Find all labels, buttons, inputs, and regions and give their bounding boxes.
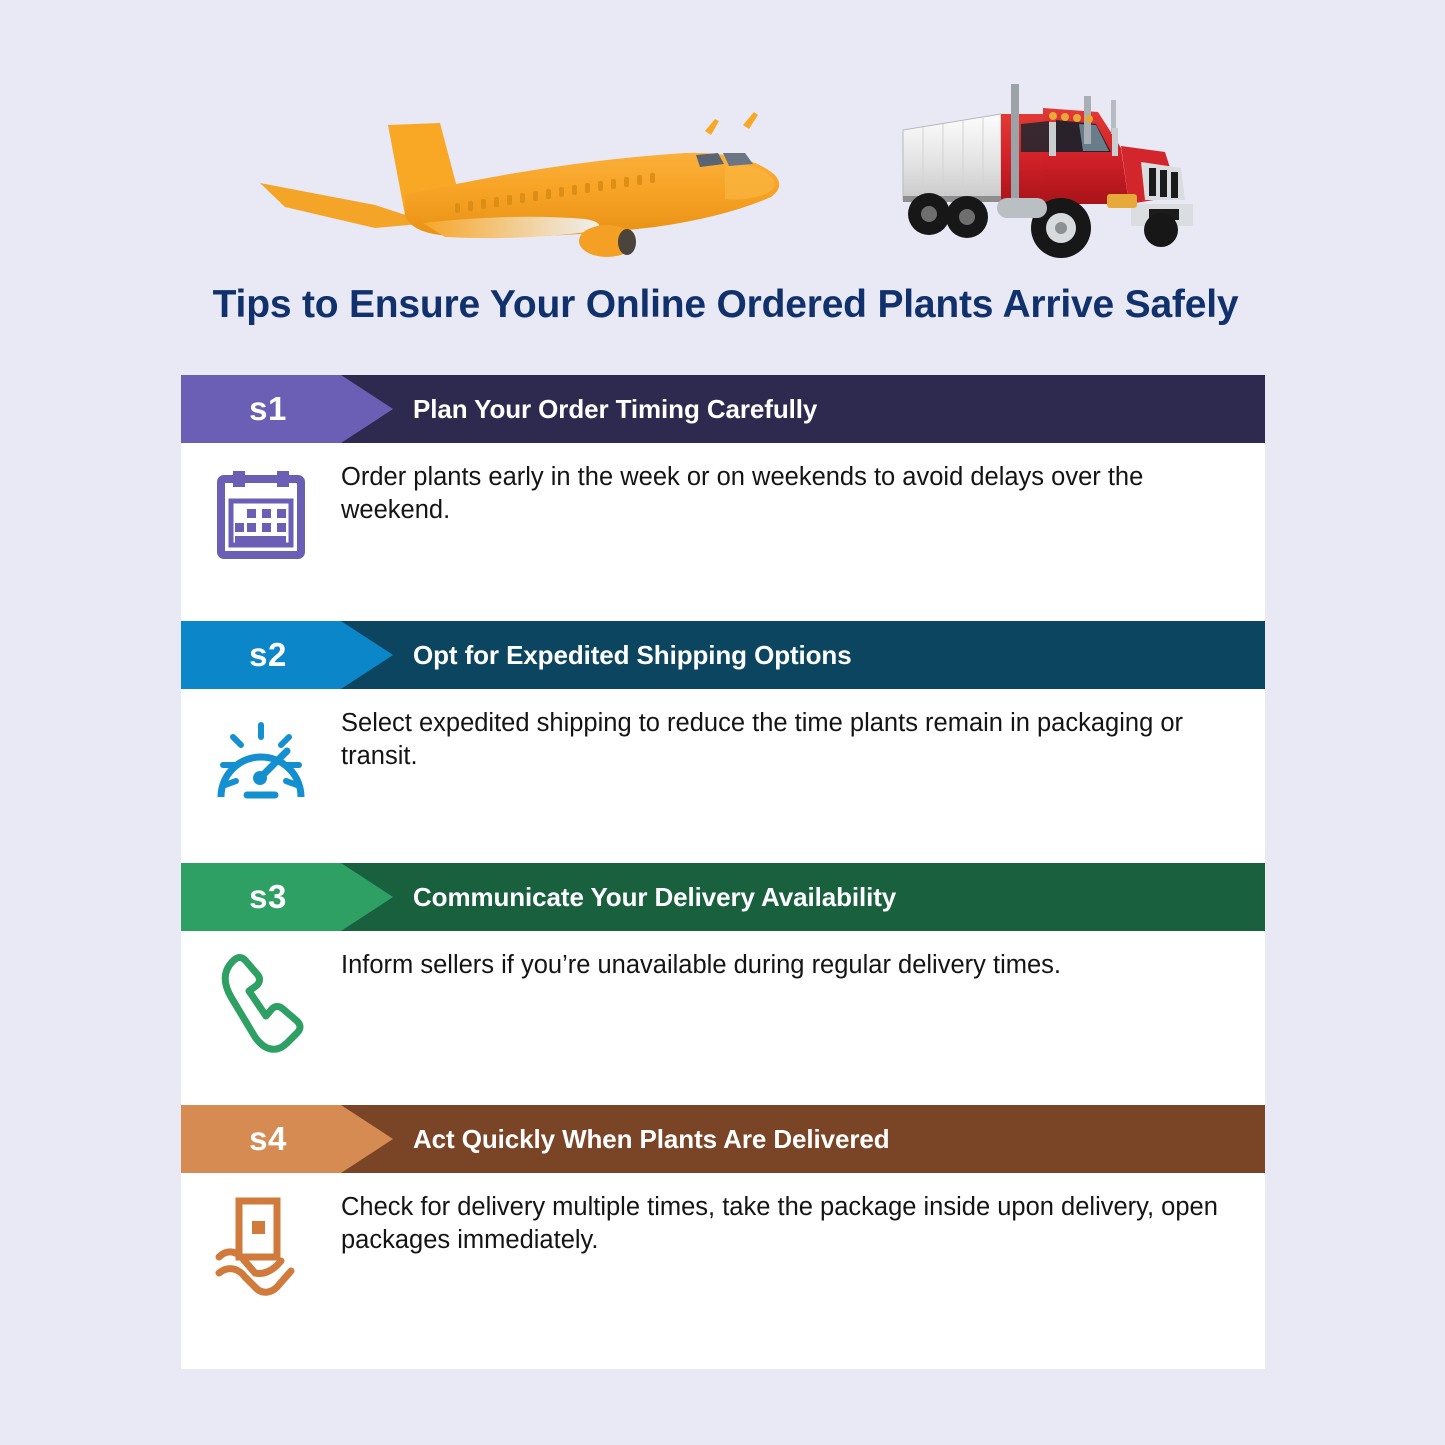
step-3-badge-label: s3 (249, 878, 325, 916)
step-3-spacer (181, 1057, 1265, 1105)
step-1-body: Order plants early in the week or on wee… (181, 443, 1265, 561)
page-title: Tips to Ensure Your Online Ordered Plant… (178, 283, 1273, 327)
infographic-page: Tips to Ensure Your Online Ordered Plant… (0, 0, 1445, 1445)
step-1-badge: s1 (181, 375, 393, 443)
step-2-description: Select expedited shipping to reduce the … (341, 707, 1255, 773)
step-1-header: s1 Plan Your Order Timing Carefully (181, 375, 1265, 443)
step-4-spacer (181, 1299, 1265, 1369)
step-1: s1 Plan Your Order Timing Carefully (181, 375, 1265, 621)
delivery-truck-photo (893, 78, 1223, 273)
step-3-header: s3 Communicate Your Delivery Availabilit… (181, 863, 1265, 931)
step-4-badge: s4 (181, 1105, 393, 1173)
step-2-header: s2 Opt for Expedited Shipping Options (181, 621, 1265, 689)
step-1-title: Plan Your Order Timing Carefully (413, 375, 817, 443)
airplane-photo (255, 95, 795, 270)
step-1-badge-label: s1 (249, 390, 325, 428)
step-4-header: s4 Act Quickly When Plants Are Delivered (181, 1105, 1265, 1173)
step-4-body: Check for delivery multiple times, take … (181, 1173, 1265, 1299)
step-2-badge-label: s2 (249, 636, 325, 674)
step-2: s2 Opt for Expedited Shipping Options (181, 621, 1265, 863)
steps-card: s1 Plan Your Order Timing Carefully (181, 375, 1265, 1358)
step-3: s3 Communicate Your Delivery Availabilit… (181, 863, 1265, 1105)
step-2-badge: s2 (181, 621, 393, 689)
telephone-icon (181, 949, 341, 1057)
hand-package-icon (181, 1191, 341, 1299)
step-4-title: Act Quickly When Plants Are Delivered (413, 1105, 890, 1173)
step-2-title: Opt for Expedited Shipping Options (413, 621, 852, 689)
step-2-spacer (181, 807, 1265, 863)
step-4-description: Check for delivery multiple times, take … (341, 1191, 1255, 1257)
step-4-badge-label: s4 (249, 1120, 325, 1158)
step-3-badge: s3 (181, 863, 393, 931)
step-3-body: Inform sellers if you’re unavailable dur… (181, 931, 1265, 1057)
step-1-spacer (181, 561, 1265, 621)
step-4: s4 Act Quickly When Plants Are Delivered… (181, 1105, 1265, 1369)
hero-images (0, 0, 1445, 285)
step-3-description: Inform sellers if you’re unavailable dur… (341, 949, 1095, 982)
step-3-title: Communicate Your Delivery Availability (413, 863, 896, 931)
calendar-icon (181, 461, 341, 561)
step-1-description: Order plants early in the week or on wee… (341, 461, 1255, 527)
step-2-body: Select expedited shipping to reduce the … (181, 689, 1265, 807)
speedometer-icon (181, 707, 341, 807)
